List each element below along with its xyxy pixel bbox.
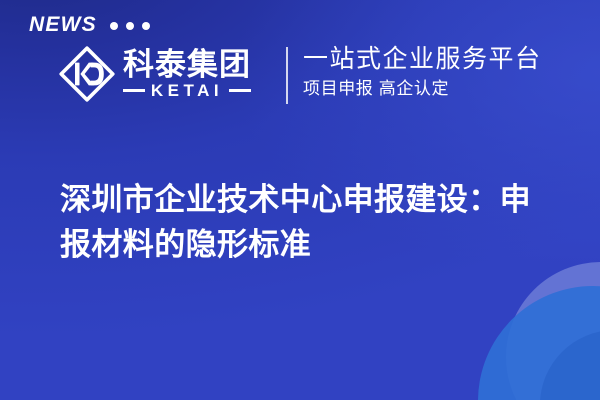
eyebrow-dot <box>142 22 150 30</box>
banner-content: NEWS 科泰集团 <box>0 0 600 400</box>
brand-names: 科泰集团 KETAI <box>123 49 251 100</box>
eyebrow-dots-icon <box>110 22 150 30</box>
eyebrow-label: NEWS <box>29 14 97 35</box>
eyebrow: NEWS <box>29 14 150 35</box>
tagline-main: 一站式企业服务平台 <box>303 44 542 75</box>
eyebrow-dot <box>110 22 118 30</box>
brand-rule-right <box>229 89 251 92</box>
ketai-kd-diamond-logo-icon <box>57 44 117 104</box>
brand-name-cn: 科泰集团 <box>123 49 251 82</box>
brand-name-en: KETAI <box>151 82 223 99</box>
tagline-sub: 项目申报 高企认定 <box>303 78 542 100</box>
brand-lockup: 科泰集团 KETAI <box>57 44 251 104</box>
brand-tagline-divider <box>286 47 288 104</box>
page-title: 深圳市企业技术中心申报建设：申报材料的隐形标准 <box>60 177 560 267</box>
brand-name-en-row: KETAI <box>123 82 251 99</box>
news-banner: NEWS 科泰集团 <box>0 0 600 400</box>
eyebrow-dot <box>126 22 134 30</box>
tagline: 一站式企业服务平台 项目申报 高企认定 <box>303 44 542 99</box>
brand-rule-left <box>123 89 145 92</box>
